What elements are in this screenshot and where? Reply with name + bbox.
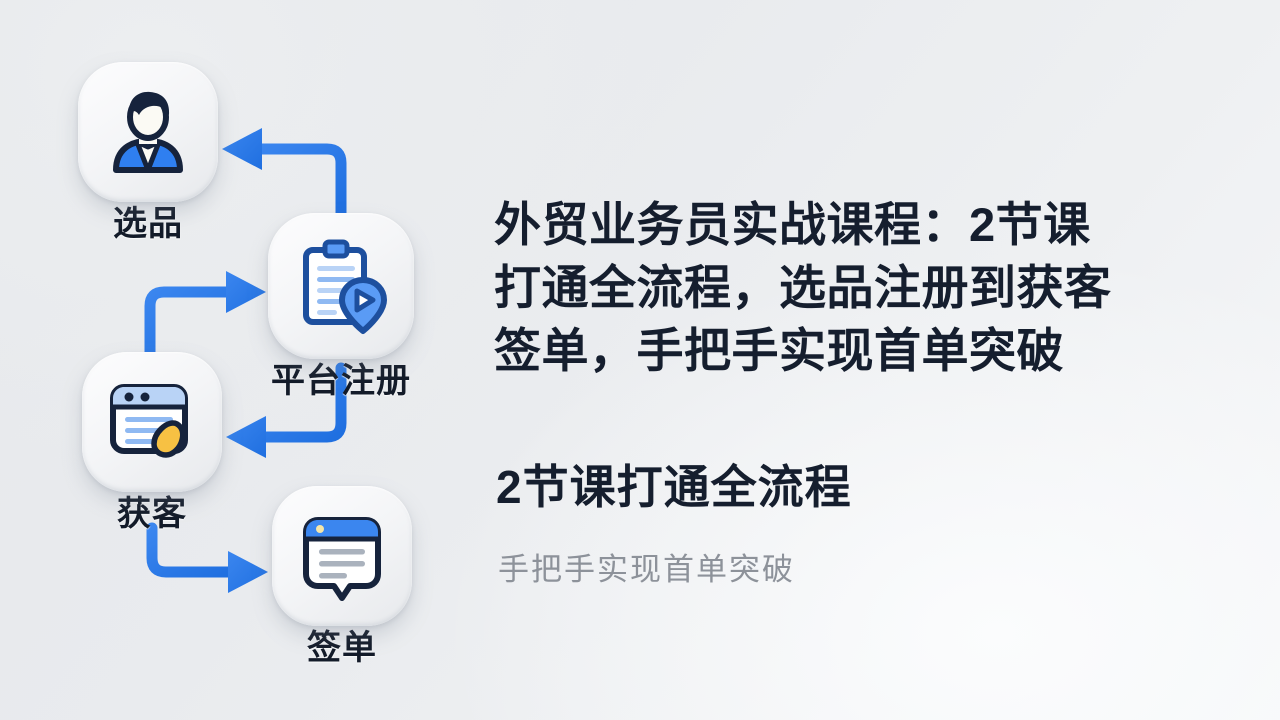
flow-node-tile: [272, 486, 412, 626]
flow-node-qiandan[interactable]: 签单: [272, 486, 412, 667]
headline: 外贸业务员实战课程：2节课 打通全流程，选品注册到获客 签单，手把手实现首单突破: [494, 193, 1236, 382]
browser-window-click-hand-icon: [103, 373, 201, 471]
businessman-avatar-icon: [100, 84, 196, 180]
headline-line-1: 外贸业务员实战课程：2节课: [494, 193, 1236, 256]
clipboard-location-pin-icon: [289, 234, 393, 338]
arrow-huoke-to-qiandan: [152, 528, 268, 593]
poster-canvas: 选品: [0, 0, 1280, 720]
flow-node-xuanpin[interactable]: 选品: [78, 62, 218, 243]
flow-node-tile: [82, 352, 222, 492]
tagline: 手把手实现首单突破: [498, 550, 795, 590]
flow-node-zhuce[interactable]: 平台注册: [268, 213, 434, 400]
process-flow-diagram: 选品: [0, 0, 470, 720]
flow-node-huoke[interactable]: 获客: [82, 352, 222, 533]
flow-node-tile: [268, 213, 414, 359]
headline-line-2: 打通全流程，选品注册到获客: [494, 256, 1236, 319]
flow-node-label: 平台注册: [248, 363, 434, 400]
speech-bubble-document-icon: [294, 508, 390, 604]
subheadline: 2节课打通全流程: [496, 460, 852, 515]
headline-line-3: 签单，手把手实现首单突破: [494, 319, 1236, 382]
flow-node-tile: [78, 62, 218, 202]
text-panel: 外贸业务员实战课程：2节课 打通全流程，选品注册到获客 签单，手把手实现首单突破…: [494, 0, 1254, 720]
arrow-huoke-to-zhuce: [150, 271, 266, 352]
arrow-zhuce-to-xuanpin: [222, 128, 341, 214]
flow-node-label: 获客: [82, 496, 222, 533]
flow-node-label: 签单: [272, 630, 412, 667]
flow-node-label: 选品: [78, 206, 218, 243]
